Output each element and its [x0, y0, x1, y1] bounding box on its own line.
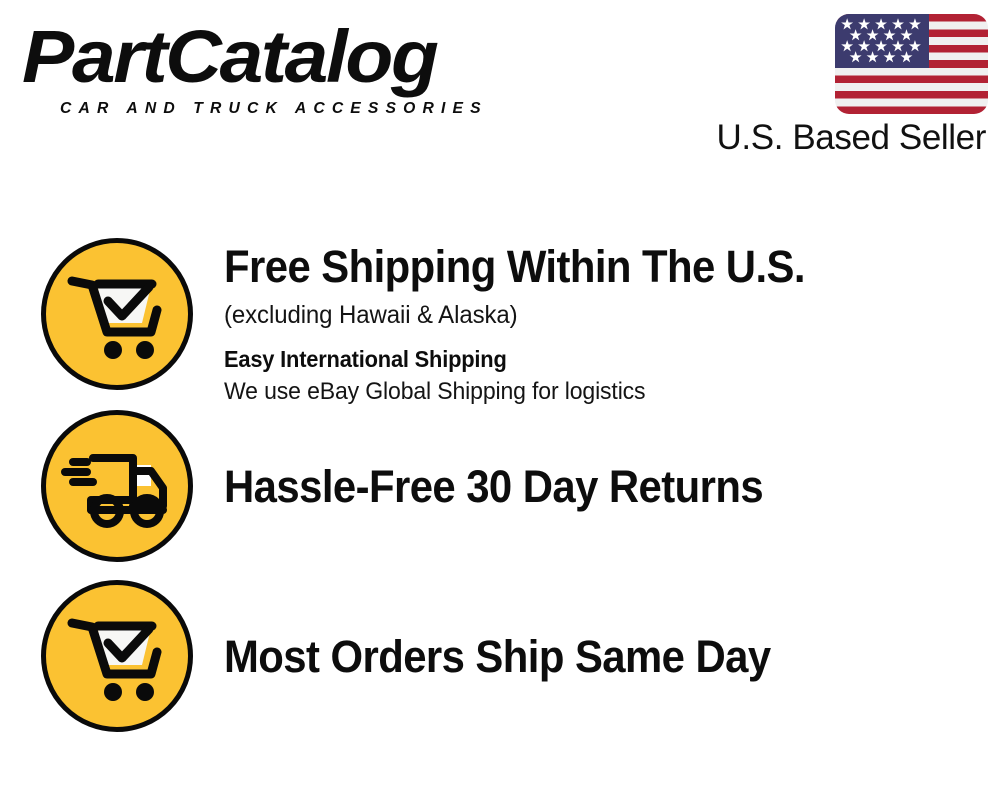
brand-wordmark: PartCatalog: [22, 18, 437, 96]
brand-tagline: CAR AND TRUCK ACCESSORIES: [60, 100, 488, 118]
flag-stars-icon: [835, 14, 929, 68]
feature-icon-free-shipping: [41, 238, 193, 390]
brand-logo[interactable]: PartCatalog CAR AND TRUCK ACCESSORIES: [22, 18, 492, 118]
feature-sub-note: We use eBay Global Shipping for logistic…: [224, 376, 969, 408]
feature-icon-same-day: [41, 580, 193, 732]
feature-note: (excluding Hawaii & Alaska): [224, 298, 969, 332]
shopping-cart-check-icon: [41, 580, 193, 732]
feature-title: Most Orders Ship Same Day: [224, 630, 946, 684]
banner-header: PartCatalog CAR AND TRUCK ACCESSORIES: [0, 0, 1000, 180]
feature-text: Most Orders Ship Same Day: [193, 580, 1000, 684]
feature-row: Free Shipping Within The U.S. (excluding…: [0, 238, 1000, 408]
feature-text: Free Shipping Within The U.S. (excluding…: [193, 238, 1000, 408]
delivery-truck-icon: [41, 410, 193, 562]
feature-icon-returns: [41, 410, 193, 562]
shopping-cart-check-icon: [41, 238, 193, 390]
feature-sub-title: Easy International Shipping: [224, 344, 961, 374]
us-based-seller-label: U.S. Based Seller: [717, 118, 986, 158]
feature-title: Hassle-Free 30 Day Returns: [224, 460, 946, 514]
feature-row: Most Orders Ship Same Day: [0, 580, 1000, 732]
us-based-seller-badge: U.S. Based Seller: [726, 8, 988, 160]
us-flag-icon: [835, 14, 988, 114]
feature-row: Hassle-Free 30 Day Returns: [0, 410, 1000, 562]
feature-text: Hassle-Free 30 Day Returns: [193, 410, 1000, 514]
feature-title: Free Shipping Within The U.S.: [224, 240, 946, 294]
